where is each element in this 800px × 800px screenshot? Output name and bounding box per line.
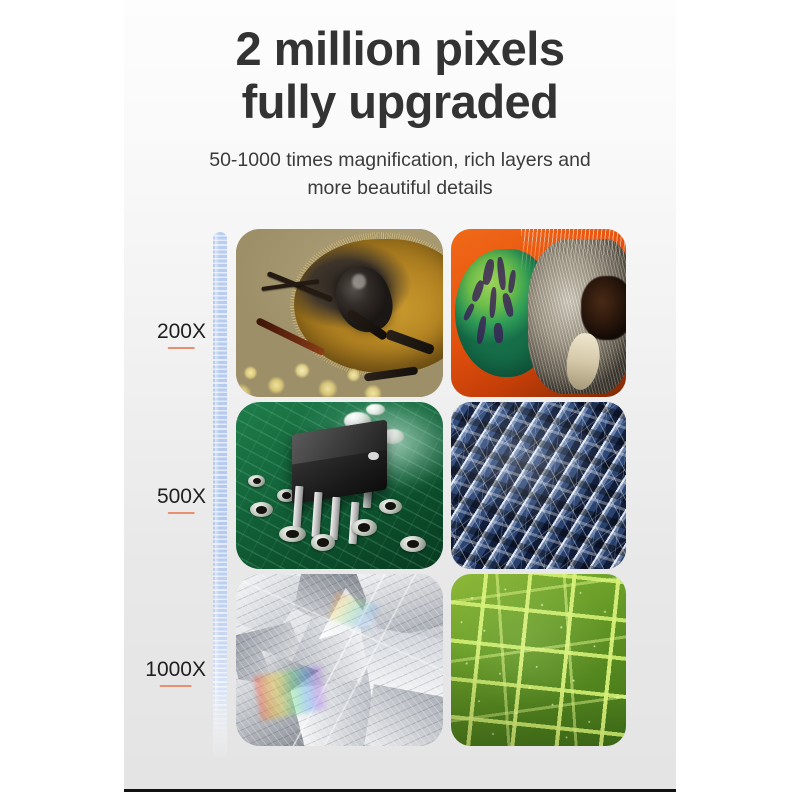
mag-label-500x-wrap: 500X xyxy=(120,485,206,514)
ruler-highlight xyxy=(215,232,219,757)
subhead-line-2: more beautiful details xyxy=(0,174,800,202)
bottom-divider xyxy=(124,789,676,792)
mag-label-1000x-wrap: 1000X xyxy=(120,658,206,687)
crystal-facets-image xyxy=(236,574,443,746)
mag-label-500x-text: 500X xyxy=(157,485,206,514)
mag-label-200x-text: 200X xyxy=(157,320,206,349)
mag-underline-200x xyxy=(168,347,194,350)
mag-underline-500x xyxy=(168,512,194,515)
product-feature-page: 2 million pixels fully upgraded 50-1000 … xyxy=(0,0,800,800)
circuit-board-chip-image xyxy=(236,402,443,569)
header-block: 2 million pixels fully upgraded 50-1000 … xyxy=(0,22,800,202)
horsefly-compound-eye-image xyxy=(451,229,626,397)
ruler-fade xyxy=(213,687,227,757)
sample-tile-crystal-facets[interactable] xyxy=(236,574,443,746)
sample-tile-honeybee-head[interactable] xyxy=(236,229,443,397)
sample-tile-circuit-board[interactable] xyxy=(236,402,443,569)
mag-underline-1000x xyxy=(159,685,192,688)
sample-tile-leaf-cells[interactable] xyxy=(451,574,626,746)
mag-label-200x-wrap: 200X xyxy=(120,320,206,349)
subhead-line-1: 50-1000 times magnification, rich layers… xyxy=(0,146,800,174)
headline-line-2: fully upgraded xyxy=(0,75,800,128)
sample-tile-horsefly-eye[interactable] xyxy=(451,229,626,397)
denim-fibres-image xyxy=(451,402,626,569)
mag-label-1000x-text: 1000X xyxy=(145,658,206,687)
headline-line-1: 2 million pixels xyxy=(0,22,800,75)
sample-tile-denim-fibres[interactable] xyxy=(451,402,626,569)
sample-image-grid xyxy=(236,229,626,746)
honeybee-head-image xyxy=(236,229,443,397)
magnification-ruler xyxy=(213,232,227,757)
leaf-cells-image xyxy=(451,574,626,746)
